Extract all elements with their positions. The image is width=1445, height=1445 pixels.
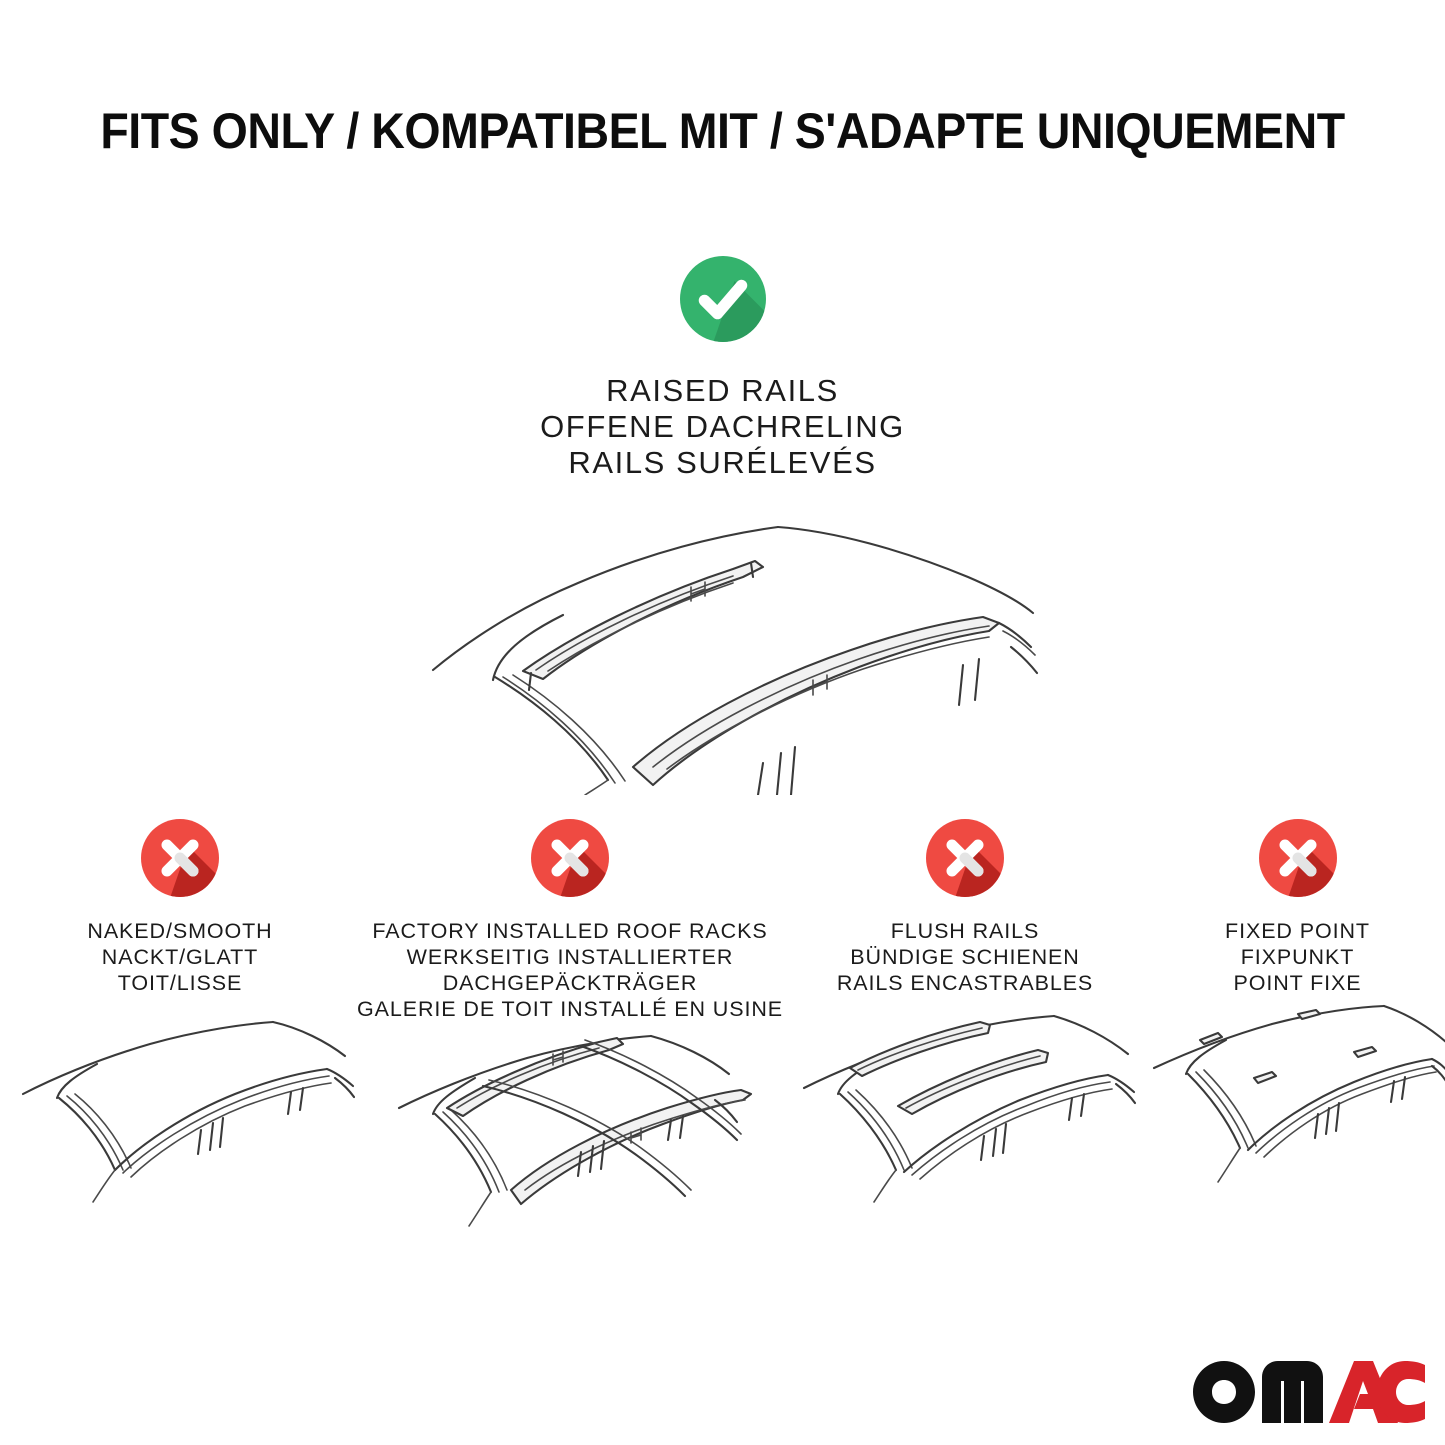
car-roof-naked-smooth-illustration [5,1002,355,1217]
incompatible-item-factory-rack: FACTORY INSTALLED ROOF RACKS WERKSEITIG … [360,818,780,1243]
label-line-fr: TOIT/LISSE [87,970,272,996]
incompatible-item-flush-rails: FLUSH RAILS BÜNDIGE SCHIENEN RAILS ENCAS… [780,818,1150,1243]
label-line-fr: RAILS ENCASTRABLES [837,970,1093,996]
car-roof-flush-rails-illustration [788,1002,1143,1217]
x-circle-icon [140,818,220,898]
label-line-de: FIXPUNKT [1225,944,1370,970]
label-line-de: BÜNDIGE SCHIENEN [837,944,1093,970]
label-line-en: FIXED POINT [1225,918,1370,944]
page-title: FITS ONLY / KOMPATIBEL MIT / S'ADAPTE UN… [51,102,1395,160]
label-line-en: NAKED/SMOOTH [87,918,272,944]
label-line-fr: GALERIE DE TOIT INSTALLÉ EN USINE [357,996,783,1022]
car-roof-factory-rack-illustration [385,1028,755,1243]
incompatible-label-fixed-point: FIXED POINT FIXPUNKT POINT FIXE [1225,918,1370,996]
label-line-de: NACKT/GLATT [87,944,272,970]
compatible-label-fr: RAILS SURÉLEVÉS [540,445,905,481]
x-circle-icon [1258,818,1338,898]
incompatible-item-naked-smooth: NAKED/SMOOTH NACKT/GLATT TOIT/LISSE [0,818,360,1243]
x-circle-icon [530,818,610,898]
incompatible-section: NAKED/SMOOTH NACKT/GLATT TOIT/LISSE [0,818,1445,1243]
compatible-section: RAISED RAILS OFFENE DACHRELING RAILS SUR… [0,255,1445,481]
logo-letter-o [1193,1361,1255,1423]
compatible-label: RAISED RAILS OFFENE DACHRELING RAILS SUR… [540,373,905,481]
incompatible-label-naked-smooth: NAKED/SMOOTH NACKT/GLATT TOIT/LISSE [87,918,272,996]
compatible-label-de: OFFENE DACHRELING [540,409,905,445]
label-line-de1: WERKSEITIG INSTALLIERTER [357,944,783,970]
compatible-label-en: RAISED RAILS [540,373,905,409]
label-line-de2: DACHGEPÄCKTRÄGER [357,970,783,996]
omac-logo [1193,1361,1425,1423]
car-roof-raised-rails-illustration [403,495,1043,795]
check-circle-icon [679,255,767,343]
car-roof-fixed-point-illustration [1148,1002,1445,1217]
compatibility-infographic: FITS ONLY / KOMPATIBEL MIT / S'ADAPTE UN… [0,0,1445,1445]
logo-letter-m [1262,1361,1323,1423]
label-line-en: FACTORY INSTALLED ROOF RACKS [357,918,783,944]
label-line-fr: POINT FIXE [1225,970,1370,996]
x-circle-icon [925,818,1005,898]
incompatible-label-flush-rails: FLUSH RAILS BÜNDIGE SCHIENEN RAILS ENCAS… [837,918,1093,996]
incompatible-item-fixed-point: FIXED POINT FIXPUNKT POINT FIXE [1150,818,1445,1243]
label-line-en: FLUSH RAILS [837,918,1093,944]
incompatible-label-factory-rack: FACTORY INSTALLED ROOF RACKS WERKSEITIG … [357,918,783,1022]
